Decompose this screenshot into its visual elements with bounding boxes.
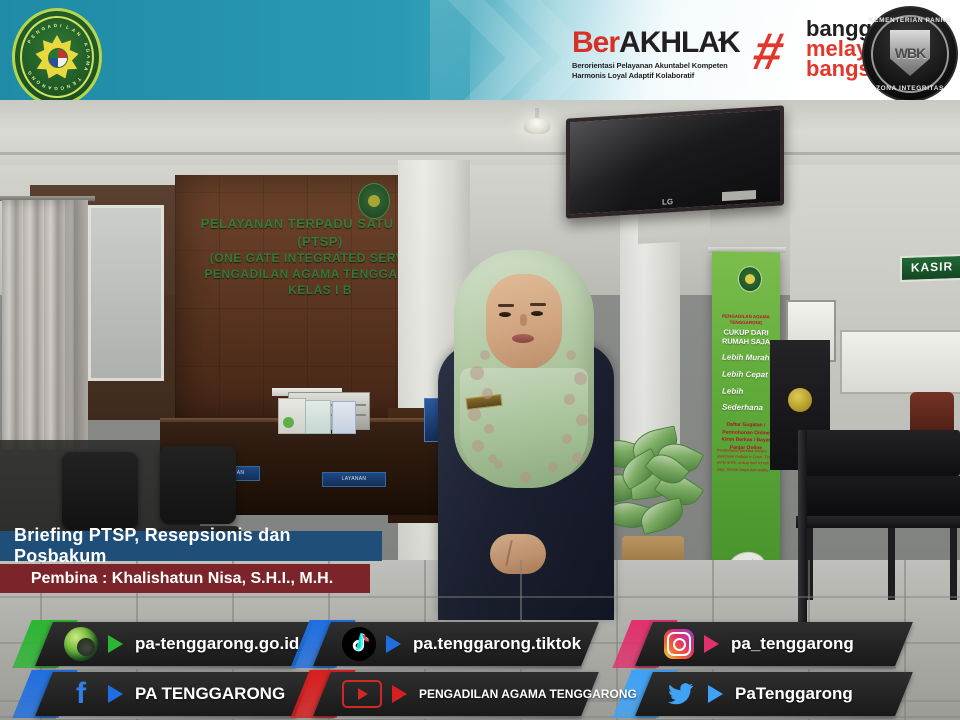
hijab-floral-motif [480, 350, 490, 360]
seal-ring-letter: L [65, 25, 69, 31]
eyebrow-right [530, 303, 546, 306]
television: LG [566, 105, 784, 218]
seal-ring-letter: R [41, 83, 46, 89]
social-handle-label: PENGADILAN AGAMA TENGGARONG [419, 687, 637, 701]
curtain-edge [74, 200, 88, 450]
seal-ring-letter: N [76, 31, 82, 37]
instagram-lens [667, 632, 691, 656]
speaker-person [424, 248, 624, 620]
social-underline [656, 716, 896, 719]
gold-emblem-icon [788, 388, 812, 412]
seal-ring-letter: N [35, 29, 41, 35]
berakhlak-logo: BerAKHLAK› Berorientasi Pelayanan Akunta… [572, 28, 740, 81]
berakhlak-tagline-line1: Berorientasi Pelayanan Akuntabel Kompete… [572, 61, 740, 71]
social-item-twitter[interactable]: PaTenggarong [622, 672, 882, 716]
social-underline [656, 666, 896, 669]
seal-ring-letter: A [71, 27, 76, 33]
play-arrow-icon [108, 635, 123, 653]
nose [520, 314, 527, 326]
social-content: pa-tenggarong.go.id [22, 622, 299, 666]
youtube-icon[interactable] [342, 680, 382, 708]
hijab-floral-motif [468, 408, 481, 421]
instagram-icon[interactable] [664, 629, 694, 659]
caption-subtitle-bar: Pembina : Khalishatun Nisa, S.H.I., M.H. [0, 564, 370, 593]
hijab-floral-motif [494, 460, 503, 469]
twitter-icon[interactable] [664, 677, 698, 711]
facebook-icon[interactable]: f [64, 677, 98, 711]
plant-leaf [637, 497, 686, 535]
social-item-website[interactable]: pa-tenggarong.go.id [22, 622, 282, 666]
hijab-floral-motif [472, 440, 484, 452]
social-underline [334, 716, 582, 719]
court-seal-logo: PENGADILAN AGAMA TENGGARONG [12, 8, 102, 100]
social-handle-label: PA TENGGARONG [135, 684, 285, 704]
seal-ring-letter: G [54, 86, 58, 91]
waiting-bench-upper [800, 430, 960, 476]
social-underline [334, 666, 582, 669]
bench-leg [888, 528, 895, 600]
seal-ring-letter: A [47, 24, 51, 30]
play-triangle-icon [358, 688, 368, 700]
seal-ring-letter: O [35, 79, 41, 85]
seal-ring-letter: E [30, 34, 36, 40]
room-photograph: PELAYANAN TERPADU SATU PINTU (PTSP) (ONE… [0, 0, 960, 720]
seal-ring-letter: A [83, 42, 89, 47]
hijab-floral-motif [572, 452, 583, 463]
berakhlak-prefix: Ber [572, 26, 619, 59]
brochure-graphic [283, 417, 294, 428]
hijab-floral-motif [470, 366, 484, 380]
eye-left [499, 312, 511, 317]
play-arrow-icon [708, 685, 723, 703]
hijab-floral-motif [484, 424, 494, 434]
curtain [2, 200, 74, 450]
hijab-floral-motif [576, 414, 588, 426]
banner-title: CUKUP DARI RUMAH SAJA [714, 327, 778, 346]
wall-emblem-icon [358, 183, 390, 219]
seal-ring-letter: D [54, 23, 58, 28]
seal-ring-letter: T [77, 77, 82, 83]
kasir-sign: KASIR [900, 254, 960, 282]
seal-ring-letter: E [72, 80, 77, 86]
header-banner: PENGADILAN AGAMA TENGGARONG BerAKHLAK› B… [0, 0, 960, 100]
hijab-floral-motif [520, 472, 531, 483]
social-item-facebook[interactable]: fPA TENGGARONG [22, 672, 282, 716]
play-arrow-icon [386, 635, 401, 653]
social-handle-label: PaTenggarong [735, 684, 853, 704]
wbk-shield-text: WBK [895, 45, 925, 61]
seal-ring-letter: G [27, 70, 33, 76]
social-item-youtube[interactable]: PENGADILAN AGAMA TENGGARONG [300, 672, 568, 716]
tv-brand-label: LG [662, 197, 673, 207]
wbk-zona-integritas-badge: KEMENTERIAN PANRB WBK ZONA INTEGRITAS [862, 6, 958, 100]
social-content: fPA TENGGARONG [22, 672, 285, 716]
waiting-bench-lower [800, 476, 960, 516]
hijab-floral-motif [574, 372, 587, 385]
eye-right [531, 311, 543, 316]
seal-ring-letter: M [85, 61, 91, 66]
ceiling [0, 100, 960, 170]
brochure [305, 400, 331, 434]
bench-seat [796, 516, 960, 528]
social-content: PENGADILAN AGAMA TENGGARONG [300, 672, 637, 716]
seal-ring-letter: N [66, 83, 71, 89]
berakhlak-tagline-line2: Harmonis Loyal Adaptif Kolaboratif [572, 71, 740, 81]
play-arrow-icon [108, 685, 123, 703]
seal-ring-letter: G [85, 48, 91, 53]
social-handle-label: pa-tenggarong.go.id [135, 634, 299, 654]
banner-body-text: Pendaftaran perkara secara elektronik me… [717, 447, 775, 473]
berakhlak-tagline: Berorientasi Pelayanan Akuntabel Kompete… [572, 61, 740, 81]
slide-canvas: PELAYANAN TERPADU SATU PINTU (PTSP) (ONE… [0, 0, 960, 720]
white-board [840, 330, 960, 394]
berakhlak-title: BerAKHLAK› [572, 28, 740, 58]
social-underline [56, 716, 296, 719]
hijab-floral-motif [548, 462, 558, 472]
seal-ring-letter: A [86, 55, 91, 58]
seal-ring-letter: A [83, 67, 89, 72]
social-item-tiktok[interactable]: pa.tenggarong.tiktok [300, 622, 568, 666]
banner-logo-icon [738, 266, 762, 292]
social-underline [56, 666, 296, 669]
seal-ring-letter: P [27, 39, 33, 44]
clasped-hands [490, 534, 546, 574]
seal-ring-letter: G [41, 26, 46, 32]
social-item-instagram[interactable]: pa_tenggarong [622, 622, 882, 666]
play-arrow-icon [704, 635, 719, 653]
mouth [512, 334, 534, 343]
eyebrow-left [498, 304, 514, 307]
banner-header-text: PENGADILAN AGAMA TENGGARONG [716, 313, 776, 326]
hijab-floral-motif [566, 350, 576, 360]
desk-nameplate: LAYANAN PENDAFTARAN [322, 472, 386, 487]
social-content: PaTenggarong [622, 672, 853, 716]
chair-back [160, 446, 236, 524]
social-handle-label: pa.tenggarong.tiktok [413, 634, 581, 654]
bench-leg [950, 528, 957, 600]
seal-ring-letter: A [48, 85, 52, 91]
social-media-footer: pa-tenggarong.go.idpa.tenggarong.tiktokp… [0, 618, 960, 720]
banner-subtext-line1: Daftar Gugatan / Permohonan Online [716, 421, 776, 437]
tiktok-icon[interactable] [342, 627, 376, 661]
seal-ring-letter: I [60, 23, 62, 28]
ceiling-lamp [524, 118, 550, 134]
floor-tile-line [0, 596, 960, 598]
play-arrow-icon [392, 685, 407, 703]
caption-title-bar: Briefing PTSP, Resepsionis dan Posbakum [0, 531, 382, 561]
hijab-floral-motif [482, 388, 493, 399]
social-content: pa.tenggarong.tiktok [300, 622, 581, 666]
social-content: pa_tenggarong [622, 622, 854, 666]
window [88, 205, 164, 381]
ceiling-seam [0, 152, 960, 155]
hijab-floral-motif [564, 394, 575, 405]
brochure [278, 398, 306, 434]
chair-back [62, 452, 138, 530]
wbk-bottom-text: ZONA INTEGRITAS [864, 85, 956, 92]
hijab-drape [460, 368, 588, 488]
wbk-top-text: KEMENTERIAN PANRB [864, 17, 956, 24]
social-handle-label: pa_tenggarong [731, 634, 854, 654]
seal-ring-letter: G [60, 85, 64, 91]
brochure [332, 401, 356, 434]
globe-icon[interactable] [64, 627, 98, 661]
hijab-floral-motif [562, 434, 572, 444]
seal-ring-text: PENGADILAN AGAMA TENGGARONG [15, 11, 99, 100]
